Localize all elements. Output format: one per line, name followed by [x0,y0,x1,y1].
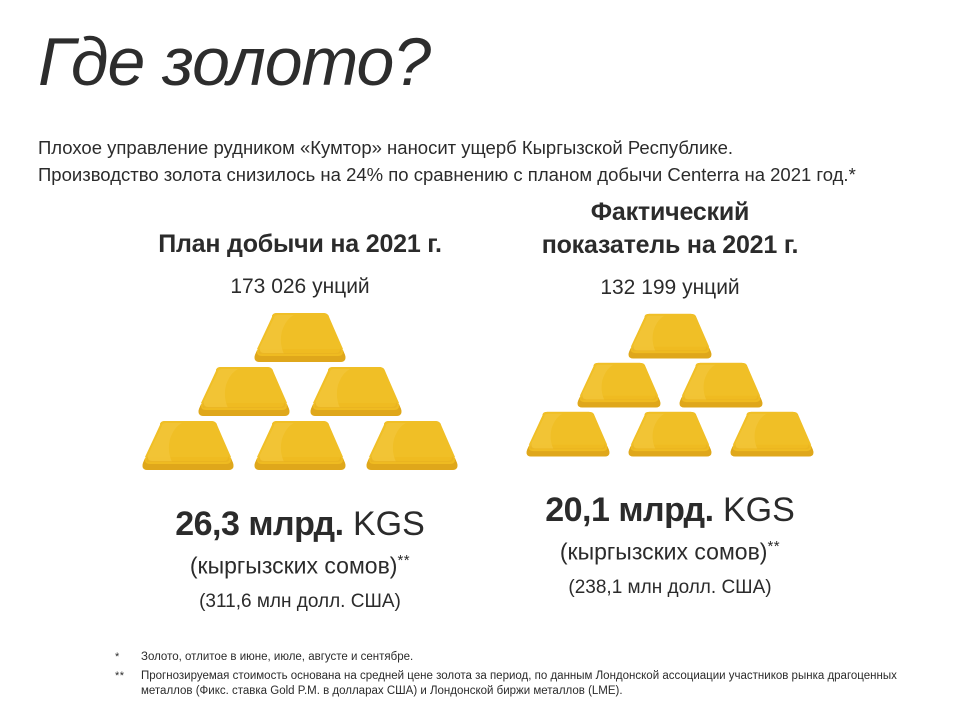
column-heading-actual-line-1: Фактический [480,196,860,229]
money-usd-plan: (311,6 млн долл. США) [110,588,490,616]
money-amount-plan: 26,3 млрд. [175,505,343,543]
subtitle-line-1: Плохое управление рудником «Кумтор» нано… [38,134,856,161]
money-currency-name-actual: (кыргызских сомов)** [480,531,860,568]
page-title: Где золото? [38,28,430,96]
subtitle-line-2: Производство золота снизилось на 24% по … [38,161,856,188]
gold-bar-icon [517,410,619,463]
column-heading-plan: План добычи на 2021 г. [110,228,490,261]
money-currency-actual: KGS [723,491,795,529]
footnotes: * Золото, отлитое в июне, июле, августе … [112,650,912,703]
gold-bar-row-middle [135,365,465,423]
footnote-marker-plan: ** [397,552,410,569]
gold-bar-icon [244,311,356,369]
gold-bar-icon [300,365,412,423]
footnote-mark: ** [112,669,141,685]
money-amount-actual: 20,1 млрд. [545,491,713,529]
money-currency-name-text-actual: (кыргызских сомов) [560,539,768,565]
gold-bar-icon [670,361,772,414]
money-currency-plan: KGS [353,505,425,543]
footnote-row: * Золото, отлитое в июне, июле, августе … [112,650,912,666]
column-heading-actual: Фактический показатель на 2021 г. [480,196,860,262]
gold-bar-pyramid-actual [520,312,820,463]
gold-bar-icon [244,419,356,477]
gold-bar-row-middle [520,361,820,414]
gold-bar-row-bottom [135,419,465,477]
gold-bar-row-top [135,311,465,369]
column-plan: План добычи на 2021 г. 173 026 унций [110,228,490,616]
gold-bar-icon [356,419,468,477]
money-main-plan: 26,3 млрд. KGS [110,503,490,545]
money-block-actual: 20,1 млрд. KGS (кыргызских сомов)** (238… [480,489,860,602]
gold-bar-icon [721,410,823,463]
money-currency-name-plan: (кыргызских сомов)** [110,545,490,582]
footnote-mark: * [112,650,141,666]
footnote-text: Прогнозируемая стоимость основана на сре… [141,669,912,700]
footnote-text: Золото, отлитое в июне, июле, августе и … [141,650,912,666]
footnote-marker-actual: ** [767,538,780,555]
ounces-value-plan: 173 026 унций [110,275,490,299]
column-heading-actual-line-2: показатель на 2021 г. [480,229,860,262]
gold-bar-row-bottom [520,410,820,463]
gold-bar-pyramid-plan [135,311,465,477]
footnote-row: ** Прогнозируемая стоимость основана на … [112,669,912,700]
gold-bar-row-top [520,312,820,365]
ounces-value-actual: 132 199 унций [480,276,860,300]
gold-bar-icon [188,365,300,423]
money-main-actual: 20,1 млрд. KGS [480,489,860,531]
column-heading-plan-line-1: План добычи на 2021 г. [110,228,490,261]
money-block-plan: 26,3 млрд. KGS (кыргызских сомов)** (311… [110,503,490,616]
money-currency-name-text-plan: (кыргызских сомов) [190,553,398,579]
gold-bar-icon [568,361,670,414]
subtitle: Плохое управление рудником «Кумтор» нано… [38,134,856,188]
gold-bar-icon [132,419,244,477]
money-usd-actual: (238,1 млн долл. США) [480,574,860,602]
gold-bar-icon [619,312,721,365]
column-actual: Фактический показатель на 2021 г. 132 19… [480,196,860,602]
gold-bar-icon [619,410,721,463]
